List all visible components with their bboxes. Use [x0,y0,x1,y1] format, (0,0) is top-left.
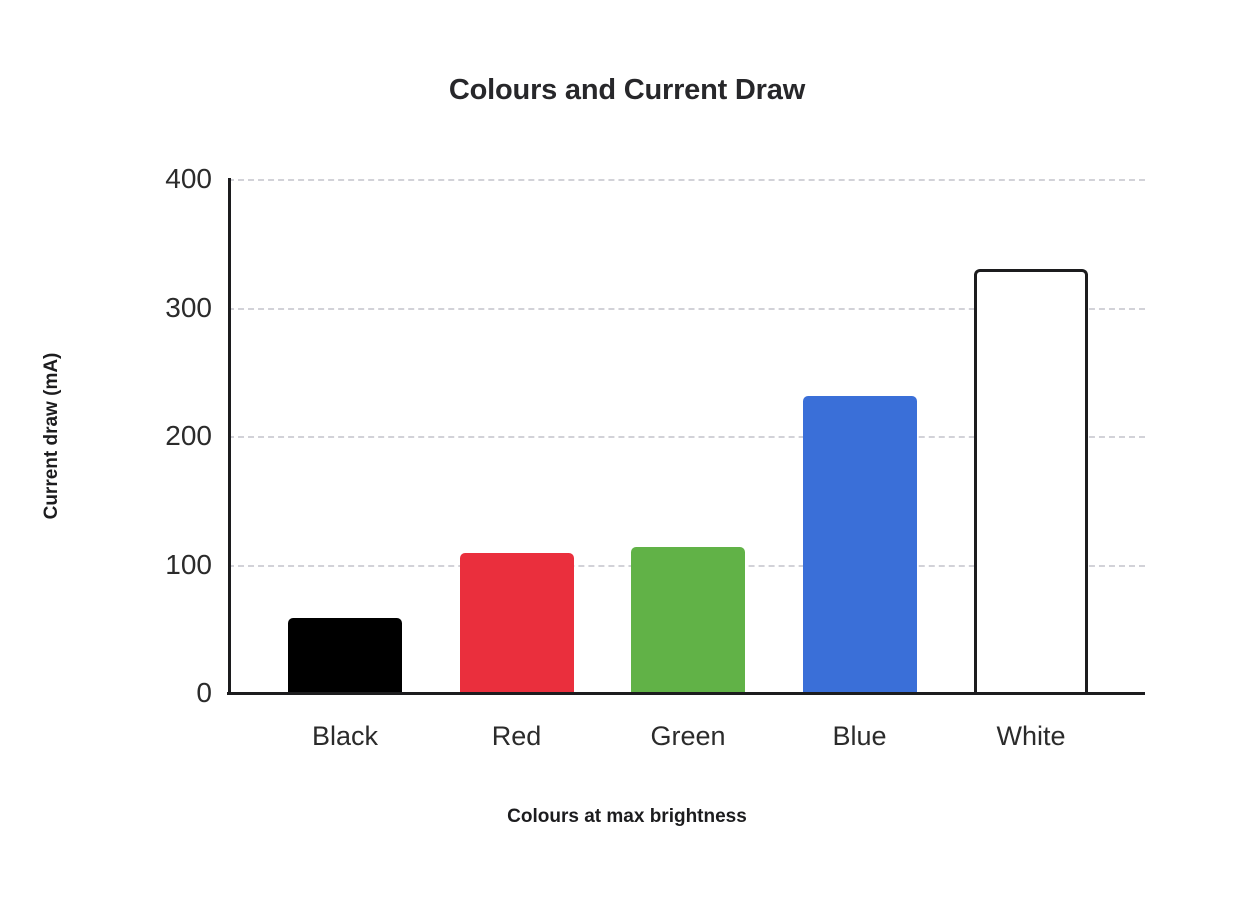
gridline-400 [228,179,1145,181]
y-tick-label-200: 200 [120,422,212,450]
bar-black[interactable] [288,618,402,693]
x-tick-label-red: Red [417,722,617,752]
y-tick-label-300: 300 [120,294,212,322]
x-tick-label-black: Black [245,722,445,752]
y-axis-label: Current draw (mA) [41,353,63,520]
bar-chart: Colours and Current Draw Current draw (m… [0,0,1254,907]
x-axis-line [227,692,1145,695]
y-tick-label-400: 400 [120,165,212,193]
plot-area [228,179,1145,693]
x-axis-label: Colours at max brightness [0,806,1254,828]
bar-red[interactable] [460,553,574,693]
y-axis-line [228,178,231,694]
y-tick-label-100: 100 [120,551,212,579]
x-tick-label-white: White [931,722,1131,752]
bar-blue[interactable] [803,396,917,693]
y-tick-label-0: 0 [120,679,212,707]
x-tick-label-green: Green [588,722,788,752]
bar-white[interactable] [974,269,1088,693]
x-tick-label-blue: Blue [760,722,960,752]
y-axis-tick-labels: 0100200300400 [120,0,212,907]
bar-green[interactable] [631,547,745,693]
